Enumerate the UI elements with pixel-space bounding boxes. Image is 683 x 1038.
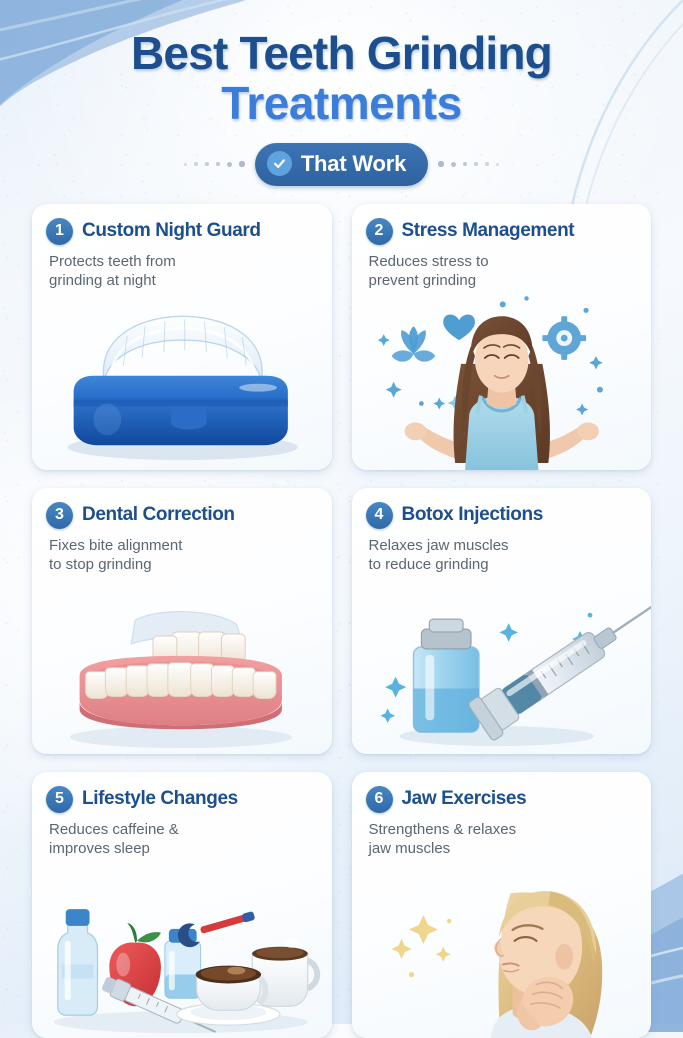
card-3-title-row: 3 Dental Correction (46, 502, 318, 529)
card-6-head: 6 Jaw Exercises Strengthens & relaxes ja… (352, 772, 652, 860)
treatment-card-1[interactable]: 1 Custom Night Guard Protects teeth from… (32, 204, 332, 470)
card-2-title-row: 2 Stress Management (366, 218, 638, 245)
check-circle-icon (267, 151, 292, 176)
card-6-number-badge: 6 (366, 786, 393, 813)
card-4-number-badge: 4 (366, 502, 393, 529)
treatment-card-2[interactable]: 2 Stress Management Reduces stress to pr… (352, 204, 652, 470)
vial (413, 619, 478, 732)
treatment-card-5[interactable]: 5 Lifestyle Changes Reduces caffeine & i… (32, 772, 332, 1038)
sparkle-icons (391, 915, 451, 977)
card-2-description: Reduces stress to prevent grinding (366, 252, 638, 292)
page-title-line-1: Best Teeth Grinding (0, 30, 683, 77)
card-2-title: Stress Management (402, 220, 575, 242)
card-5-description: Reduces caffeine & improves sleep (46, 820, 318, 860)
card-1-head: 1 Custom Night Guard Protects teeth from… (32, 204, 332, 292)
treatment-card-4[interactable]: 4 Botox Injections Relaxes jaw muscles t… (352, 488, 652, 754)
subtitle-badge-row: That Work (0, 143, 683, 186)
syringe (467, 584, 651, 740)
card-2-head: 2 Stress Management Reduces stress to pr… (352, 204, 652, 292)
that-work-badge: That Work (255, 143, 428, 186)
card-3-description: Fixes bite alignment to stop grinding (46, 536, 318, 576)
card-6-title-row: 6 Jaw Exercises (366, 786, 638, 813)
card-4-description: Relaxes jaw muscles to reduce grinding (366, 536, 638, 576)
card-6-title: Jaw Exercises (402, 788, 527, 810)
lotus-icon (391, 326, 435, 361)
treatment-card-grid: 1 Custom Night Guard Protects teeth from… (32, 204, 651, 1038)
card-4-title-row: 4 Botox Injections (366, 502, 638, 529)
pen-icon (175, 905, 258, 950)
card-3-head: 3 Dental Correction Fixes bite alignment… (32, 488, 332, 576)
dental-model-with-clear-aligner-image (32, 589, 332, 754)
card-1-number-badge: 1 (46, 218, 73, 245)
card-5-number-badge: 5 (46, 786, 73, 813)
card-5-title-row: 5 Lifestyle Changes (46, 786, 318, 813)
vial-and-syringe-image (352, 584, 652, 754)
dotted-line-right (438, 161, 499, 167)
water-bottle (58, 909, 98, 1015)
heart-icon (443, 314, 475, 340)
header: Best Teeth Grinding Treatments That Work (0, 0, 683, 186)
card-4-head: 4 Botox Injections Relaxes jaw muscles t… (352, 488, 652, 576)
woman-meditating-with-lotus-icons-image (352, 285, 652, 470)
card-4-title: Botox Injections (402, 504, 543, 526)
night-guard-on-blue-case-image (32, 295, 332, 470)
treatment-card-3[interactable]: 3 Dental Correction Fixes bite alignment… (32, 488, 332, 754)
badge-label: That Work (301, 151, 406, 177)
card-5-title: Lifestyle Changes (82, 788, 238, 810)
gear-icon (542, 316, 586, 360)
card-1-description: Protects teeth from grinding at night (46, 252, 318, 292)
card-1-title-row: 1 Custom Night Guard (46, 218, 318, 245)
treatment-card-6[interactable]: 6 Jaw Exercises Strengthens & relaxes ja… (352, 772, 652, 1038)
card-3-title: Dental Correction (82, 504, 235, 526)
dotted-line-left (184, 161, 245, 167)
card-3-number-badge: 3 (46, 502, 73, 529)
card-2-number-badge: 2 (366, 218, 393, 245)
water-apple-coffee-cups-image (32, 878, 332, 1038)
card-1-title: Custom Night Guard (82, 220, 261, 242)
card-5-head: 5 Lifestyle Changes Reduces caffeine & i… (32, 772, 332, 860)
page-title-line-2: Treatments (0, 79, 683, 129)
woman-touching-jaw-image (352, 866, 652, 1038)
card-6-description: Strengthens & relaxes jaw muscles (366, 820, 638, 860)
